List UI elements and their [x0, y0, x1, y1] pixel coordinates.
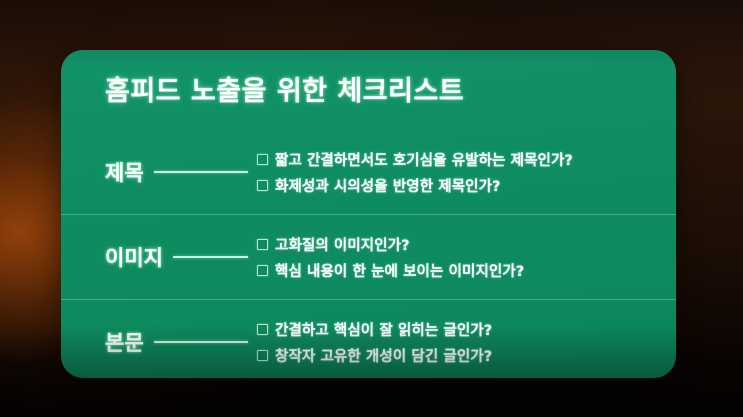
list-item-label: 고화질의 이미지인가?	[275, 234, 410, 255]
checkbox-empty-icon[interactable]	[257, 265, 268, 276]
section-label-group: 본문	[105, 327, 257, 357]
checklist-items: 고화질의 이미지인가? 핵심 내용이 한 눈에 보이는 이미지인가?	[257, 229, 666, 286]
checklist-items: 짧고 간결하면서도 호기심을 유발하는 제목인가? 화제성과 시의성을 반영한 …	[257, 144, 666, 201]
list-item-label: 간결하고 핵심이 잘 읽히는 글인가?	[275, 319, 492, 340]
list-item-label: 창작자 고유한 개성이 담긴 글인가?	[275, 345, 492, 366]
section-label-group: 이미지	[105, 242, 257, 272]
checkbox-empty-icon[interactable]	[257, 324, 268, 335]
checkbox-empty-icon[interactable]	[257, 350, 268, 361]
checklist-sections: 제목 짧고 간결하면서도 호기심을 유발하는 제목인가? 화제성과 시의성을 반…	[61, 130, 676, 378]
section-label: 본문	[105, 327, 144, 357]
checkbox-empty-icon[interactable]	[257, 180, 268, 191]
checklist-section: 제목 짧고 간결하면서도 호기심을 유발하는 제목인가? 화제성과 시의성을 반…	[61, 130, 676, 214]
checklist-section: 이미지 고화질의 이미지인가? 핵심 내용이 한 눈에 보이는 이미지인가?	[61, 214, 676, 299]
list-item-label: 핵심 내용이 한 눈에 보이는 이미지인가?	[275, 260, 524, 281]
section-label: 제목	[105, 157, 144, 187]
card-title: 홈피드 노출을 위한 체크리스트	[105, 69, 464, 108]
list-item[interactable]: 핵심 내용이 한 눈에 보이는 이미지인가?	[257, 260, 666, 281]
checklist-section: 본문 간결하고 핵심이 잘 읽히는 글인가? 창작자 고유한 개성이 담긴 글인…	[61, 299, 676, 378]
checklist-items: 간결하고 핵심이 잘 읽히는 글인가? 창작자 고유한 개성이 담긴 글인가?	[257, 314, 666, 371]
list-item-label: 짧고 간결하면서도 호기심을 유발하는 제목인가?	[275, 149, 573, 170]
list-item[interactable]: 간결하고 핵심이 잘 읽히는 글인가?	[257, 319, 666, 340]
section-label-group: 제목	[105, 157, 257, 187]
connector-line-icon	[154, 171, 248, 173]
section-label: 이미지	[105, 242, 163, 272]
connector-line-icon	[154, 341, 248, 343]
list-item[interactable]: 짧고 간결하면서도 호기심을 유발하는 제목인가?	[257, 149, 666, 170]
list-item[interactable]: 고화질의 이미지인가?	[257, 234, 666, 255]
checkbox-empty-icon[interactable]	[257, 239, 268, 250]
connector-line-icon	[173, 256, 248, 258]
checklist-card: 홈피드 노출을 위한 체크리스트 제목 짧고 간결하면서도 호기심을 유발하는 …	[61, 50, 676, 378]
list-item[interactable]: 화제성과 시의성을 반영한 제목인가?	[257, 175, 666, 196]
list-item[interactable]: 창작자 고유한 개성이 담긴 글인가?	[257, 345, 666, 366]
slide-background: 홈피드 노출을 위한 체크리스트 제목 짧고 간결하면서도 호기심을 유발하는 …	[0, 0, 743, 417]
checkbox-empty-icon[interactable]	[257, 154, 268, 165]
list-item-label: 화제성과 시의성을 반영한 제목인가?	[275, 175, 501, 196]
